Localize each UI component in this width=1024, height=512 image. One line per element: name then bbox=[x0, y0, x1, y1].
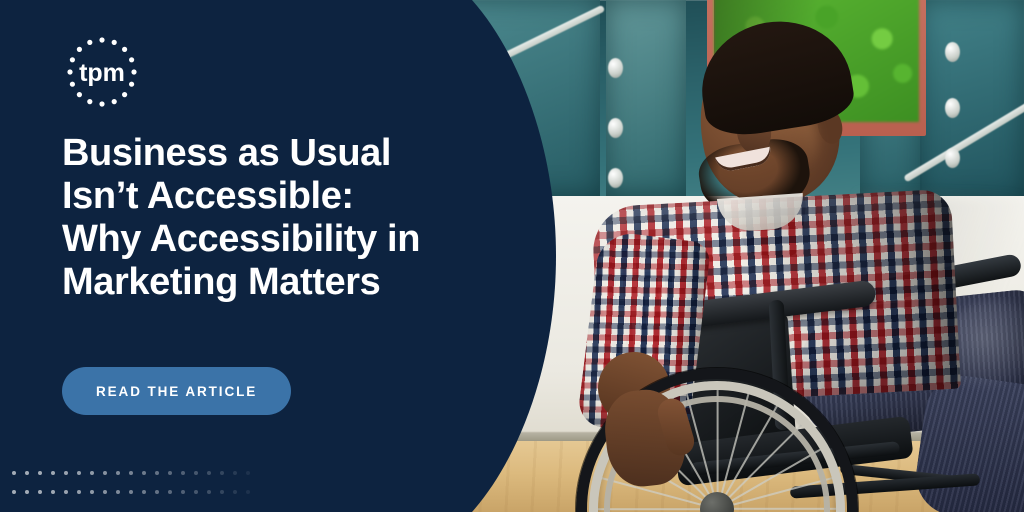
promo-banner: tpm Business as Usual Isn’t Accessible: … bbox=[0, 0, 1024, 512]
headline-line-2: Isn’t Accessible: bbox=[62, 175, 452, 218]
page-title: Business as Usual Isn’t Accessible: Why … bbox=[62, 132, 452, 304]
headline-line-1: Business as Usual bbox=[62, 132, 452, 175]
banner-content: tpm Business as Usual Isn’t Accessible: … bbox=[0, 0, 500, 512]
headline-line-4: Marketing Matters bbox=[62, 261, 452, 304]
headline-line-3: Why Accessibility in bbox=[62, 218, 452, 261]
read-the-article-button[interactable]: READ THE ARTICLE bbox=[62, 367, 291, 415]
dot-grid-pattern bbox=[12, 464, 262, 504]
logo-wordmark: tpm bbox=[79, 59, 125, 87]
tpm-dotted-circle-logo[interactable]: tpm bbox=[62, 32, 142, 112]
